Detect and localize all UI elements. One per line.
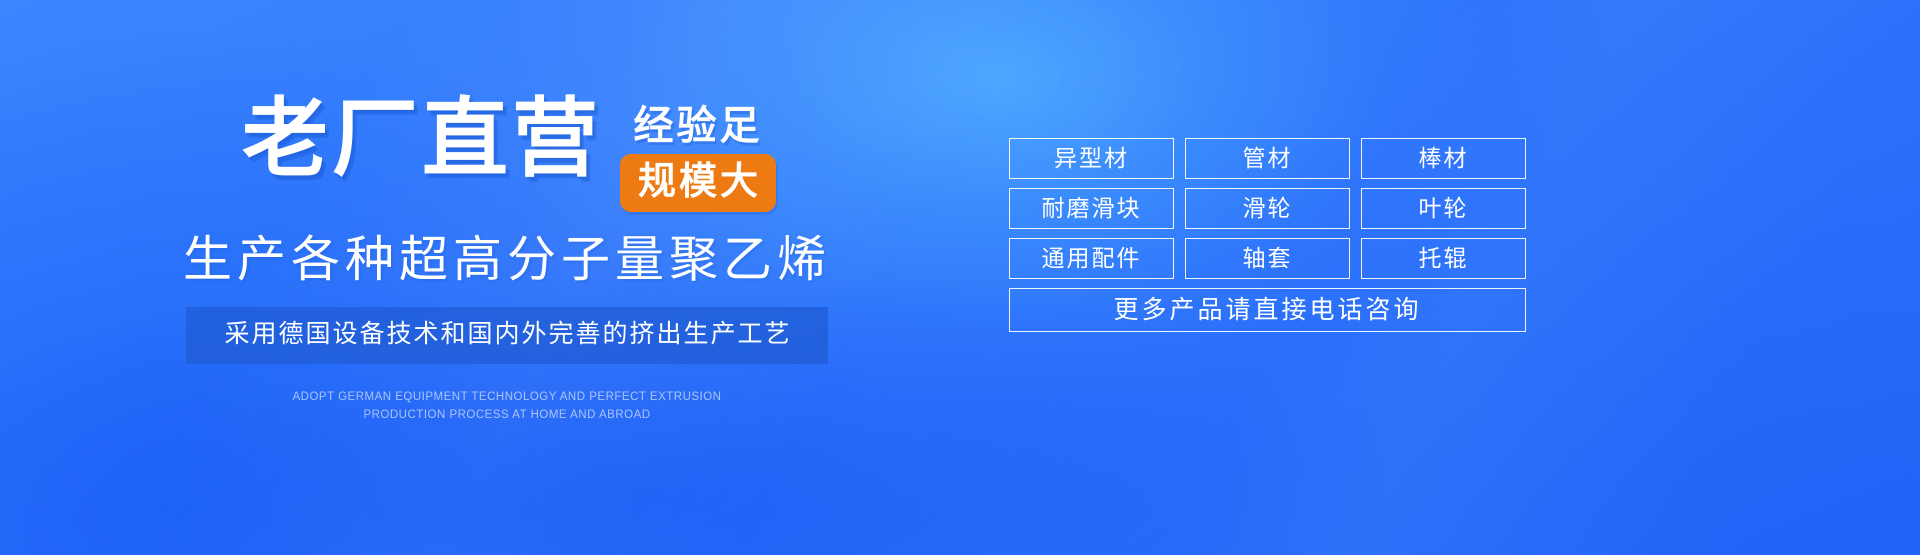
product-button-grid: 异型材 管材 棒材 耐磨滑块 滑轮 叶轮 通用配件 轴套 — [1009, 138, 1529, 332]
product-links-block: 异型材 管材 棒材 耐磨滑块 滑轮 叶轮 通用配件 轴套 — [1009, 138, 1529, 332]
product-button-yelun[interactable]: 叶轮 — [1361, 188, 1526, 229]
product-button-label: 更多产品请直接电话咨询 — [1113, 298, 1421, 323]
product-button-naimohuakuai[interactable]: 耐磨滑块 — [1009, 188, 1174, 229]
product-button-bangcai[interactable]: 棒材 — [1361, 138, 1526, 179]
headline-row: 老厂直营 经验足 规模大 — [0, 96, 1000, 212]
product-button-guancai[interactable]: 管材 — [1185, 138, 1350, 179]
english-subtitle: ADOPT GERMAN EQUIPMENT TECHNOLOGY AND PE… — [0, 389, 1000, 425]
product-button-more-contact[interactable]: 更多产品请直接电话咨询 — [1009, 288, 1526, 332]
english-subtitle-line-1: ADOPT GERMAN EQUIPMENT TECHNOLOGY AND PE… — [14, 389, 1000, 407]
sub-headline-text: 生产各种超高分子量聚乙烯 — [0, 232, 1000, 288]
headline-block: 老厂直营 经验足 规模大 生产各种超高分子量聚乙烯 采用德国设备技术和国内外完善… — [0, 96, 1000, 425]
tagline-wrapper: 采用德国设备技术和国内外完善的挤出生产工艺 — [0, 307, 1000, 364]
english-subtitle-line-2: PRODUCTION PROCESS AT HOME AND ABROAD — [14, 407, 1000, 425]
product-button-label: 耐磨滑块 — [1042, 197, 1142, 220]
product-button-tuogun[interactable]: 托辊 — [1361, 238, 1526, 279]
tagline-bar: 采用德国设备技术和国内外完善的挤出生产工艺 — [186, 307, 827, 364]
product-button-label: 管材 — [1243, 147, 1293, 170]
product-button-label: 棒材 — [1419, 147, 1469, 170]
product-button-hualun[interactable]: 滑轮 — [1185, 188, 1350, 229]
headline-badge-stack: 经验足 规模大 — [620, 96, 776, 212]
product-button-label: 通用配件 — [1042, 247, 1142, 270]
product-button-yixingcai[interactable]: 异型材 — [1009, 138, 1174, 179]
badge-scale: 规模大 — [620, 154, 776, 212]
product-button-label: 异型材 — [1054, 147, 1129, 170]
headline-main-text: 老厂直营 — [242, 96, 602, 182]
product-button-label: 叶轮 — [1419, 197, 1469, 220]
badge-experience: 经验足 — [633, 104, 762, 149]
product-button-label: 托辊 — [1419, 247, 1469, 270]
product-button-zhoutao[interactable]: 轴套 — [1185, 238, 1350, 279]
product-button-label: 轴套 — [1243, 247, 1293, 270]
product-button-tongyongpeijian[interactable]: 通用配件 — [1009, 238, 1174, 279]
product-button-label: 滑轮 — [1243, 197, 1293, 220]
promo-banner: 老厂直营 经验足 规模大 生产各种超高分子量聚乙烯 采用德国设备技术和国内外完善… — [0, 0, 1920, 555]
